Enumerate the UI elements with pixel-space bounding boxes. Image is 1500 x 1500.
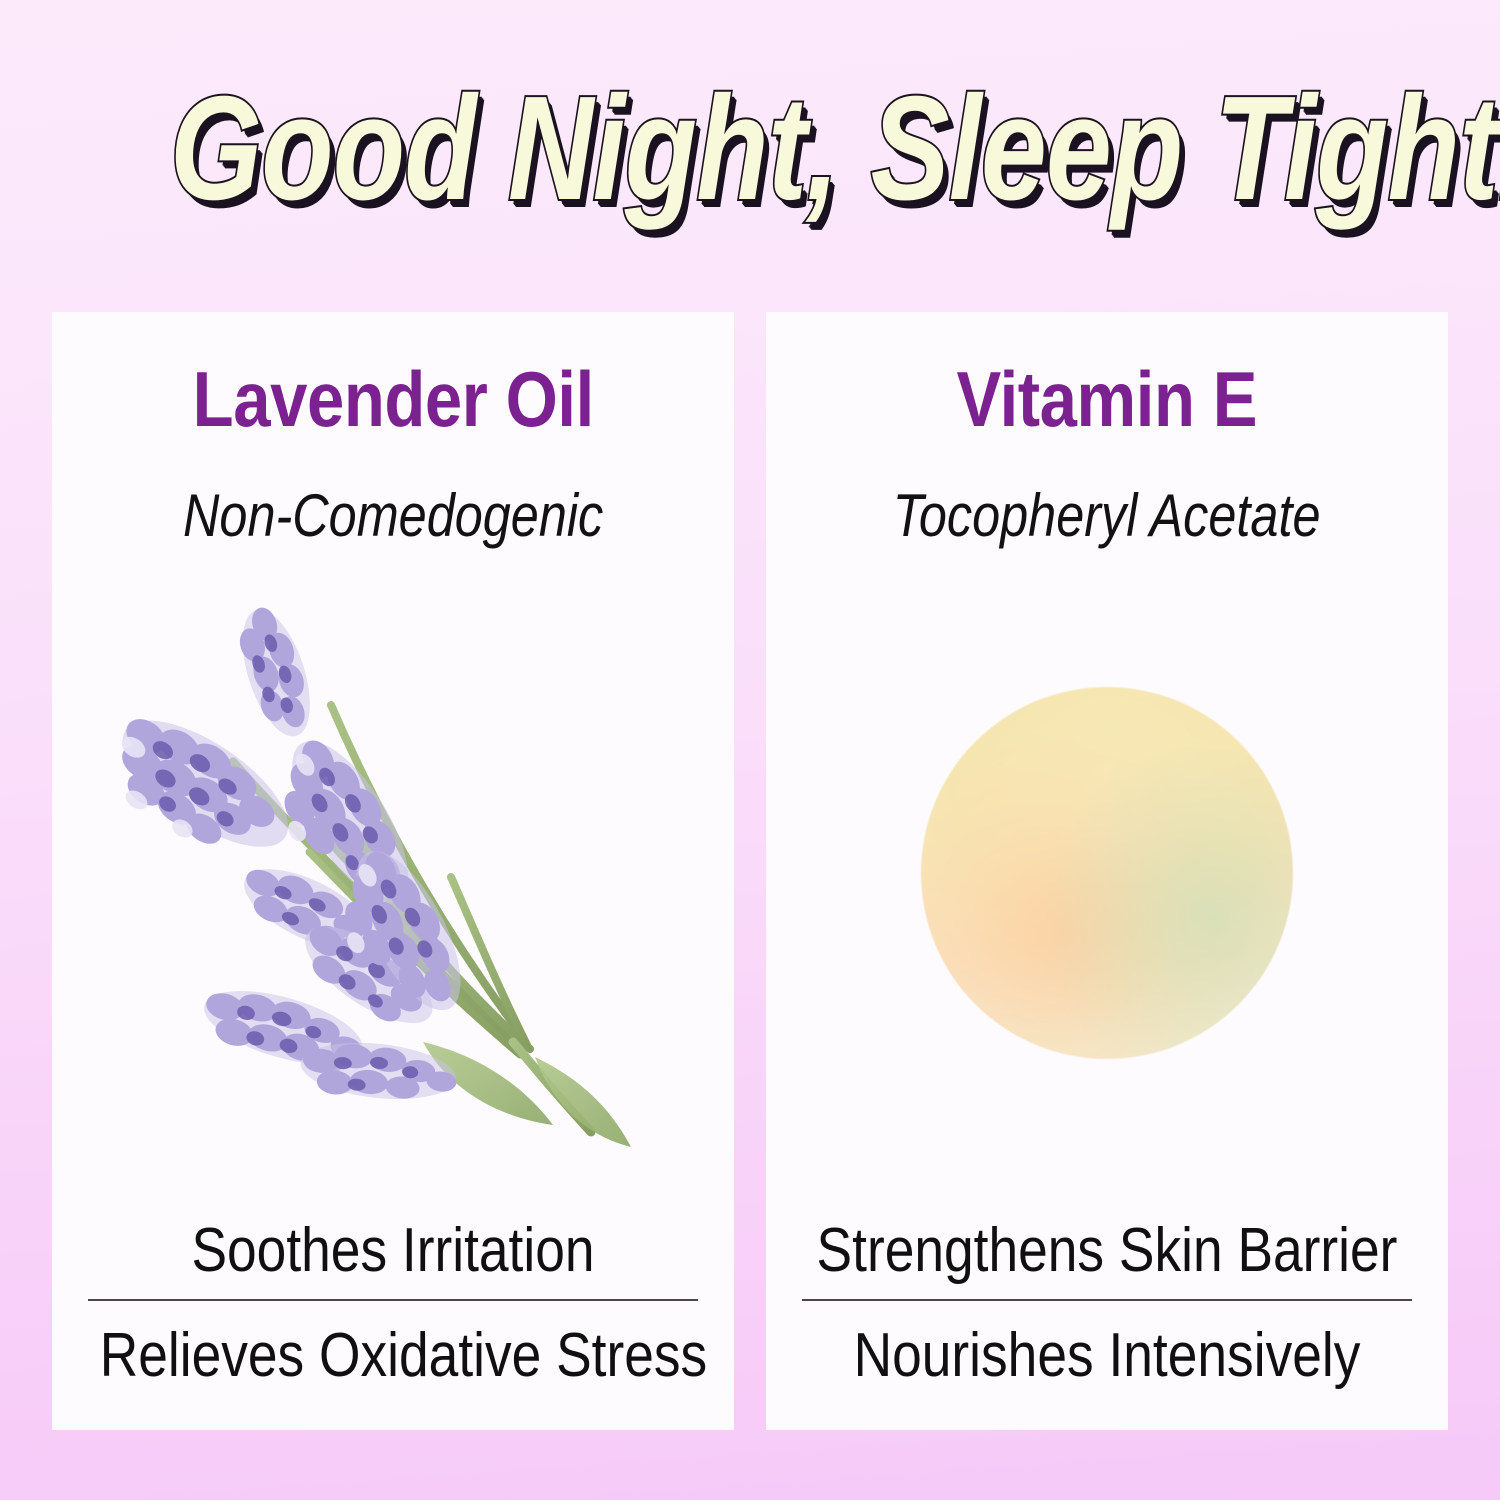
ingredient-visual-area bbox=[52, 546, 734, 1218]
ingredient-name-heading: Vitamin E bbox=[957, 360, 1258, 438]
ingredient-cards-row: Lavender Oil Non-Comedogenic bbox=[52, 312, 1448, 1430]
benefits-list: Soothes Irritation Relieves Oxidative St… bbox=[52, 1218, 734, 1430]
benefit-item: Relieves Oxidative Stress bbox=[100, 1301, 687, 1388]
ingredient-visual-area bbox=[766, 546, 1448, 1218]
ingredient-inci-subtitle: Tocopheryl Acetate bbox=[893, 486, 1321, 546]
ingredient-card-vitamin-e: Vitamin E Tocopheryl Acetate Strengthens… bbox=[766, 312, 1448, 1430]
vitamin-e-swatch-icon bbox=[921, 687, 1293, 1059]
product-ingredient-poster: Good Night, Sleep Tight. Lavender Oil No… bbox=[0, 0, 1500, 1500]
benefit-item: Nourishes Intensively bbox=[814, 1301, 1401, 1388]
benefit-item: Soothes Irritation bbox=[100, 1218, 687, 1299]
ingredient-inci-subtitle: Non-Comedogenic bbox=[183, 486, 603, 546]
headline-container: Good Night, Sleep Tight. bbox=[0, 74, 1500, 254]
page-title: Good Night, Sleep Tight. bbox=[170, 74, 1500, 225]
lavender-sprig-icon bbox=[83, 587, 703, 1187]
benefit-item: Strengthens Skin Barrier bbox=[814, 1218, 1401, 1299]
ingredient-name-heading: Lavender Oil bbox=[192, 360, 593, 438]
ingredient-card-lavender-oil: Lavender Oil Non-Comedogenic bbox=[52, 312, 734, 1430]
benefits-list: Strengthens Skin Barrier Nourishes Inten… bbox=[766, 1218, 1448, 1430]
